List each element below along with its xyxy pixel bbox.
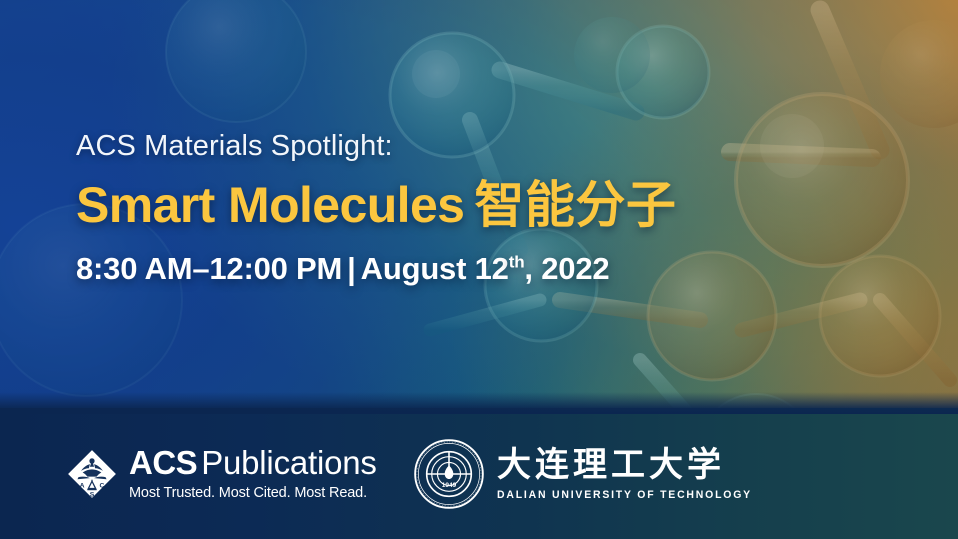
date-ordinal: th [509, 253, 525, 272]
dut-name-english: DALIAN UNIVERSITY OF TECHNOLOGY [497, 489, 752, 501]
dut-wordmark-group: 大连理工大学 DALIAN UNIVERSITY OF TECHNOLOGY [497, 447, 765, 502]
acs-diamond-icon: A C S [66, 448, 118, 500]
dut-name-chinese: 大连理工大学 [497, 447, 725, 484]
acs-wordmark-light: Publications [201, 444, 377, 481]
dut-seal-icon: 1949 [413, 438, 485, 510]
headline-english: Smart Molecules [76, 177, 464, 233]
banner-eyebrow: ACS Materials Spotlight: [76, 128, 896, 164]
event-date: August 12 [361, 251, 509, 286]
time-range: 8:30 AM–12:00 PM [76, 251, 342, 286]
event-promo-banner: ACS Materials Spotlight: Smart Molecules… [0, 0, 958, 539]
banner-headline: Smart Molecules智能分子 [76, 177, 896, 233]
headline-chinese: 智能分子 [474, 177, 676, 233]
dalian-university-logo: 1949 大连理工大学 DALIAN UNIVERSITY OF TECHNOL… [413, 438, 765, 510]
svg-text:S: S [90, 491, 95, 498]
banner-content: ACS Materials Spotlight: Smart Molecules… [76, 128, 896, 287]
svg-text:C: C [99, 482, 104, 489]
event-year: , 2022 [524, 251, 609, 286]
banner-footer: A C S ACSPublications Most Trusted. Most… [0, 408, 958, 539]
acs-wordmark-bold: ACS [129, 444, 197, 481]
datetime-separator: | [347, 251, 355, 286]
banner-datetime: 8:30 AM–12:00 PM|August 12th, 2022 [76, 250, 896, 287]
acs-tagline: Most Trusted. Most Cited. Most Read. [129, 485, 377, 501]
acs-wordmark: ACSPublications [129, 446, 377, 479]
seal-year: 1949 [442, 482, 457, 489]
acs-wordmark-group: ACSPublications Most Trusted. Most Cited… [129, 446, 377, 501]
svg-text:A: A [80, 482, 85, 489]
acs-publications-logo: A C S ACSPublications Most Trusted. Most… [66, 446, 377, 501]
